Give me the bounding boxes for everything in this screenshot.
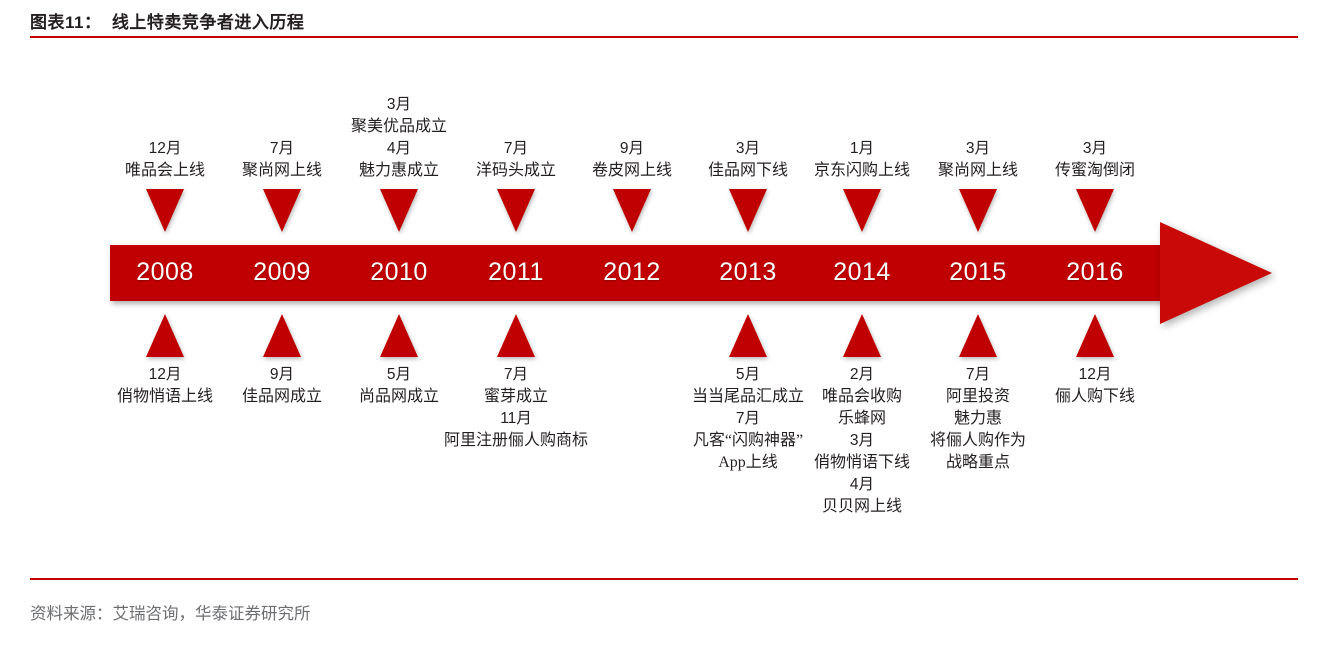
marker-down-icon-2014 [843, 189, 881, 232]
event-text: 将俪人购作为 [930, 430, 1026, 452]
event-month: 3月 [1055, 138, 1135, 160]
event-label-below-2009: 9月佳品网成立 [242, 364, 322, 408]
event-month: 4月 [814, 474, 910, 496]
year-label-2016: 2016 [1066, 258, 1124, 287]
year-label-2014: 2014 [833, 258, 891, 287]
marker-up-icon-2010 [380, 314, 418, 357]
event-month: 1月 [814, 138, 910, 160]
year-label-2010: 2010 [370, 258, 428, 287]
event-month: 3月 [938, 138, 1018, 160]
event-month: 3月 [351, 94, 447, 116]
year-label-2011: 2011 [488, 258, 544, 287]
year-label-2008: 2008 [136, 258, 194, 287]
marker-down-icon-2011 [497, 189, 535, 232]
event-month: 4月 [351, 138, 447, 160]
event-label-above-2008: 12月唯品会上线 [125, 138, 205, 182]
marker-down-icon-2015 [959, 189, 997, 232]
event-label-below-2008: 12月俏物悄语上线 [117, 364, 213, 408]
event-label-above-2013: 3月佳品网下线 [708, 138, 788, 182]
marker-up-icon-2014 [843, 314, 881, 357]
event-text: 聚美优品成立 [351, 116, 447, 138]
event-label-below-2015: 7月阿里投资魅力惠将俪人购作为战略重点 [930, 364, 1026, 474]
year-label-2009: 2009 [253, 258, 311, 287]
title-divider [30, 36, 1298, 38]
marker-down-icon-2009 [263, 189, 301, 232]
timeline-arrow-head-icon [1160, 222, 1272, 324]
event-label-above-2016: 3月传蜜淘倒闭 [1055, 138, 1135, 182]
event-text: 俏物悄语上线 [117, 386, 213, 408]
event-text: App上线 [692, 452, 804, 474]
event-text: 乐蜂网 [814, 408, 910, 430]
event-month: 7月 [444, 364, 588, 386]
marker-up-icon-2013 [729, 314, 767, 357]
event-label-above-2010: 3月聚美优品成立4月魅力惠成立 [351, 94, 447, 182]
event-month: 9月 [592, 138, 672, 160]
event-month: 7月 [692, 408, 804, 430]
event-month: 9月 [242, 364, 322, 386]
event-text: 佳品网下线 [708, 160, 788, 182]
event-label-below-2011: 7月蜜芽成立11月阿里注册俪人购商标 [444, 364, 588, 452]
event-text: 当当尾品汇成立 [692, 386, 804, 408]
marker-up-icon-2015 [959, 314, 997, 357]
event-label-above-2009: 7月聚尚网上线 [242, 138, 322, 182]
event-label-above-2014: 1月京东闪购上线 [814, 138, 910, 182]
page-title: 图表11： 线上特卖竞争者进入历程 [30, 8, 304, 33]
event-text: 京东闪购上线 [814, 160, 910, 182]
event-month: 11月 [444, 408, 588, 430]
event-month: 12月 [1055, 364, 1135, 386]
event-month: 3月 [708, 138, 788, 160]
event-text: 魅力惠成立 [351, 160, 447, 182]
event-label-above-2015: 3月聚尚网上线 [938, 138, 1018, 182]
event-month: 12月 [117, 364, 213, 386]
marker-down-icon-2013 [729, 189, 767, 232]
event-text: 俏物悄语下线 [814, 452, 910, 474]
marker-up-icon-2009 [263, 314, 301, 357]
event-text: 佳品网成立 [242, 386, 322, 408]
event-text: 传蜜淘倒闭 [1055, 160, 1135, 182]
event-text: 俪人购下线 [1055, 386, 1135, 408]
event-label-below-2010: 5月尚品网成立 [359, 364, 439, 408]
marker-up-icon-2011 [497, 314, 535, 357]
event-month: 12月 [125, 138, 205, 160]
marker-down-icon-2016 [1076, 189, 1114, 232]
event-text: 卷皮网上线 [592, 160, 672, 182]
event-text: 唯品会收购 [814, 386, 910, 408]
timeline-diagram: 200812月唯品会上线12月俏物悄语上线20097月聚尚网上线9月佳品网成立2… [0, 40, 1328, 560]
marker-down-icon-2012 [613, 189, 651, 232]
year-label-2013: 2013 [719, 258, 777, 287]
event-month: 7月 [930, 364, 1026, 386]
event-text: 唯品会上线 [125, 160, 205, 182]
marker-up-icon-2008 [146, 314, 184, 357]
marker-down-icon-2008 [146, 189, 184, 232]
event-text: 聚尚网上线 [242, 160, 322, 182]
event-label-above-2011: 7月洋码头成立 [476, 138, 556, 182]
event-text: 洋码头成立 [476, 160, 556, 182]
year-label-2015: 2015 [949, 258, 1007, 287]
event-month: 3月 [814, 430, 910, 452]
event-label-below-2014: 2月唯品会收购乐蜂网3月俏物悄语下线4月贝贝网上线 [814, 364, 910, 518]
event-label-below-2013: 5月当当尾品汇成立7月凡客“闪购神器”App上线 [692, 364, 804, 474]
footer-divider [30, 578, 1298, 580]
event-month: 2月 [814, 364, 910, 386]
marker-down-icon-2010 [380, 189, 418, 232]
event-month: 5月 [359, 364, 439, 386]
year-label-2012: 2012 [603, 258, 661, 287]
event-text: 阿里注册俪人购商标 [444, 430, 588, 452]
event-text: 凡客“闪购神器” [692, 430, 804, 452]
event-text: 尚品网成立 [359, 386, 439, 408]
event-month: 7月 [476, 138, 556, 160]
event-text: 贝贝网上线 [814, 496, 910, 518]
event-label-below-2016: 12月俪人购下线 [1055, 364, 1135, 408]
event-text: 蜜芽成立 [444, 386, 588, 408]
event-text: 魅力惠 [930, 408, 1026, 430]
source-note: 资料来源：艾瑞咨询，华泰证券研究所 [30, 600, 311, 624]
marker-up-icon-2016 [1076, 314, 1114, 357]
event-text: 阿里投资 [930, 386, 1026, 408]
event-text: 战略重点 [930, 452, 1026, 474]
event-month: 5月 [692, 364, 804, 386]
event-label-above-2012: 9月卷皮网上线 [592, 138, 672, 182]
event-month: 7月 [242, 138, 322, 160]
event-text: 聚尚网上线 [938, 160, 1018, 182]
